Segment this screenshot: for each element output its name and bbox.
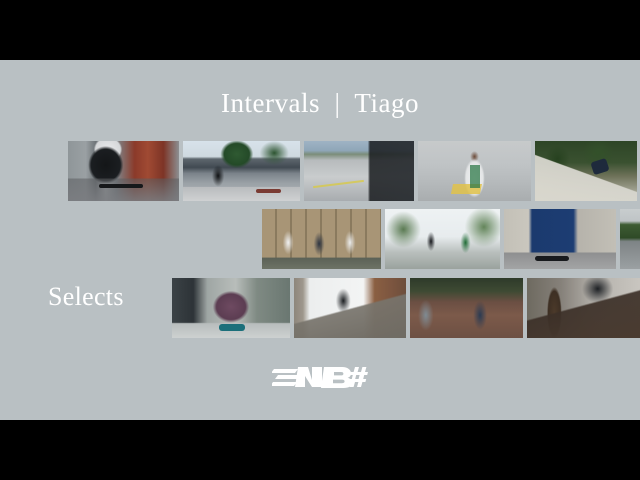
photo-image-r2c1 <box>262 209 381 269</box>
photo-image-r2c3 <box>504 209 616 269</box>
title-card-stage: Intervals | Tiago Selects <box>0 60 640 420</box>
photo-thumbnail[interactable] <box>620 209 640 269</box>
photo-thumbnail[interactable] <box>304 141 414 201</box>
video-frame: Intervals | Tiago Selects <box>0 0 640 480</box>
photo-image-r3c3 <box>410 278 523 338</box>
photo-row-middle <box>262 209 640 269</box>
photo-image-r1c4 <box>418 141 531 201</box>
photo-image-r1c1 <box>68 141 179 201</box>
photo-image-r2c4 <box>620 209 640 269</box>
photo-image-r1c3 <box>304 141 414 201</box>
letterbox-bar-top <box>0 0 640 60</box>
page-title: Intervals | Tiago <box>0 87 640 119</box>
section-label-selects: Selects <box>48 282 124 312</box>
photo-image-r2c2 <box>385 209 500 269</box>
photo-image-r3c2 <box>294 278 406 338</box>
photo-thumbnail[interactable] <box>418 141 531 201</box>
photo-image-r3c4 <box>527 278 640 338</box>
photo-thumbnail[interactable] <box>527 278 640 338</box>
photo-thumbnail[interactable] <box>385 209 500 269</box>
photo-row-top <box>68 141 637 201</box>
new-balance-numeric-logo-icon <box>272 360 368 394</box>
photo-thumbnail[interactable] <box>504 209 616 269</box>
photo-thumbnail[interactable] <box>183 141 300 201</box>
letterbox-bar-bottom <box>0 420 640 480</box>
photo-thumbnail[interactable] <box>294 278 406 338</box>
photo-image-r3c1 <box>172 278 290 338</box>
photo-thumbnail[interactable] <box>535 141 637 201</box>
photo-thumbnail[interactable] <box>172 278 290 338</box>
photo-row-bottom <box>172 278 640 338</box>
photo-thumbnail[interactable] <box>262 209 381 269</box>
photo-image-r1c5 <box>535 141 637 201</box>
photo-thumbnail[interactable] <box>68 141 179 201</box>
photo-thumbnail[interactable] <box>410 278 523 338</box>
photo-image-r1c2 <box>183 141 300 201</box>
